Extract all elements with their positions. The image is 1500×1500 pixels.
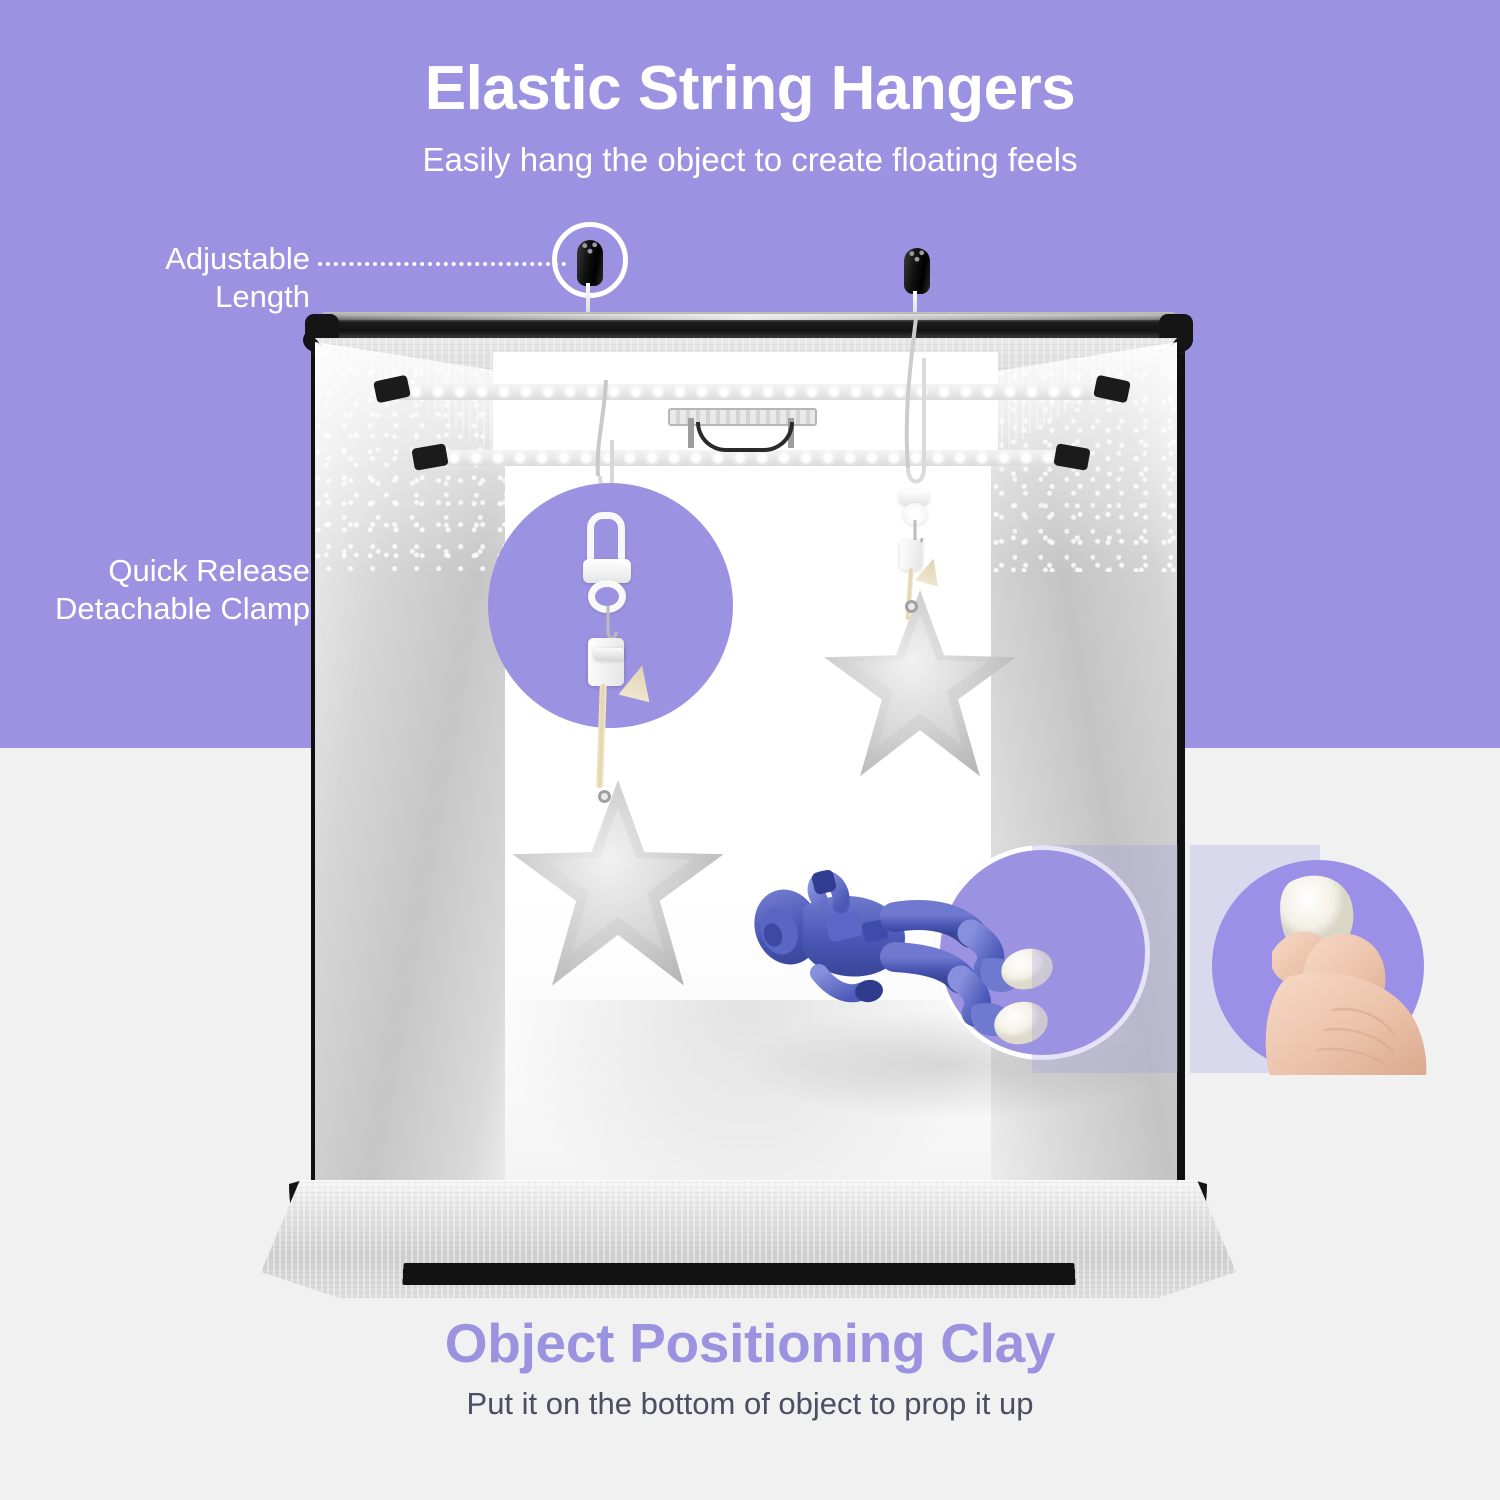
handle-loop [696, 422, 794, 452]
detachable-clamp [588, 638, 624, 686]
clamp-lever [594, 648, 624, 660]
star-grommet-left [598, 790, 611, 803]
knob-vent-holes-icon [577, 240, 603, 256]
infographic-canvas: Elastic String Hangers Easily hang the o… [0, 0, 1500, 1500]
hand-holding-clay [1212, 860, 1442, 1075]
velcro-strip [402, 1263, 1075, 1285]
knob-vent-holes-icon [904, 248, 930, 264]
detachable-clamp-right [900, 540, 922, 570]
callout-leader-line-adjustable-length [318, 262, 566, 266]
bottom-subtitle: Put it on the bottom of object to prop i… [0, 1385, 1500, 1422]
cord-lock-knob-right [904, 248, 930, 294]
star-grommet-right [905, 600, 918, 613]
top-rail-highlight [333, 314, 1163, 320]
led-diodes-top [383, 384, 1109, 400]
page-subtitle: Easily hang the object to create floatin… [0, 140, 1500, 180]
carry-handle[interactable] [668, 408, 813, 448]
led-diodes-bottom [421, 450, 1069, 466]
detail-overlay-pane-left [1032, 845, 1178, 1073]
cord-lock-knob-left [577, 240, 603, 286]
page-title: Elastic String Hangers [0, 58, 1500, 120]
photo-light-box [243, 300, 1253, 1285]
bottom-title: Object Positioning Clay [0, 1316, 1500, 1371]
handle-post [688, 418, 694, 448]
